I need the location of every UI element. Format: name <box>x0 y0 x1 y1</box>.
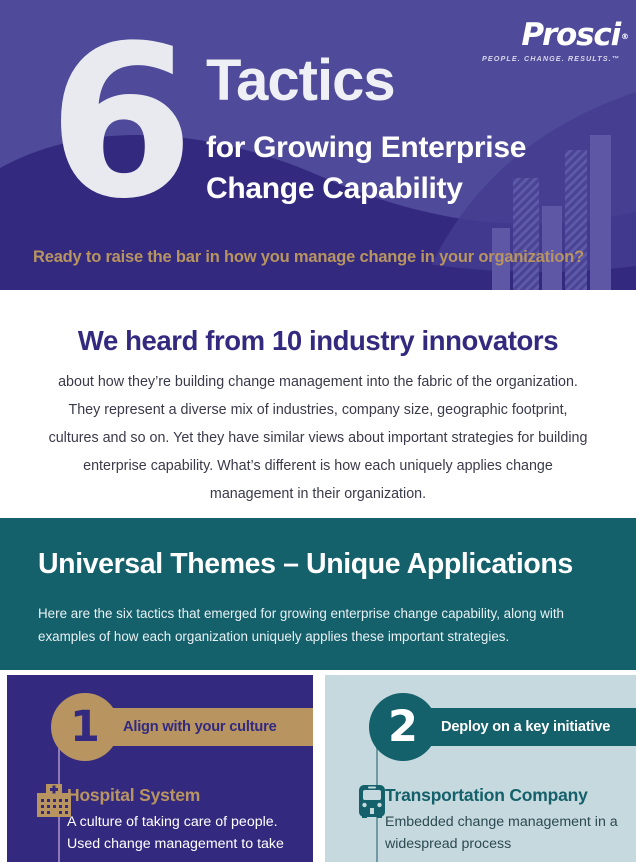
themes-section: Universal Themes – Unique Applications H… <box>0 518 636 670</box>
logo-tagline: PEOPLE. CHANGE. RESULTS.™ <box>482 54 620 63</box>
intro-section: We heard from 10 industry innovators abo… <box>0 290 636 518</box>
tactic-org-name-2: Transportation Company <box>385 785 588 806</box>
tactic-number-1: 1 <box>51 693 119 761</box>
tactic-org-desc-1: A culture of taking care of people. Used… <box>67 811 307 855</box>
logo-trademark-icon: ® <box>621 21 629 52</box>
intro-heading: We heard from 10 industry innovators <box>0 325 636 357</box>
logo-wordmark: Prosci® <box>521 20 620 51</box>
tactics-cards: Align with your culture 1 <box>0 670 636 862</box>
prosci-logo[interactable]: Prosci® PEOPLE. CHANGE. RESULTS.™ <box>482 20 620 63</box>
tactic-org-name-1: Hospital System <box>67 785 200 806</box>
themes-body: Here are the six tactics that emerged fo… <box>38 602 598 648</box>
hero-title: Tactics <box>206 52 395 110</box>
tactic-card-2[interactable]: Deploy on a key initiative 2 Transportat… <box>325 675 636 862</box>
logo-word-text: Prosci <box>521 17 620 53</box>
hero-tagline: Ready to raise the bar in how you manage… <box>33 248 584 267</box>
hero-subtitle: for Growing Enterprise Change Capability <box>206 127 626 209</box>
tactic-title-2: Deploy on a key initiative <box>441 719 610 735</box>
tactic-number-2: 2 <box>369 693 437 761</box>
intro-body: about how they’re building change manage… <box>42 368 594 508</box>
hero-header: 6 Tactics for Growing Enterprise Change … <box>0 0 636 290</box>
themes-heading: Universal Themes – Unique Applications <box>38 548 573 581</box>
tactic-org-desc-2: Embedded change management in a widespre… <box>385 811 625 855</box>
tactic-card-1[interactable]: Align with your culture 1 <box>7 675 313 862</box>
infographic-page: 6 Tactics for Growing Enterprise Change … <box>0 0 636 862</box>
hero-number: 6 <box>48 18 188 228</box>
tactic-title-1: Align with your culture <box>123 719 277 735</box>
